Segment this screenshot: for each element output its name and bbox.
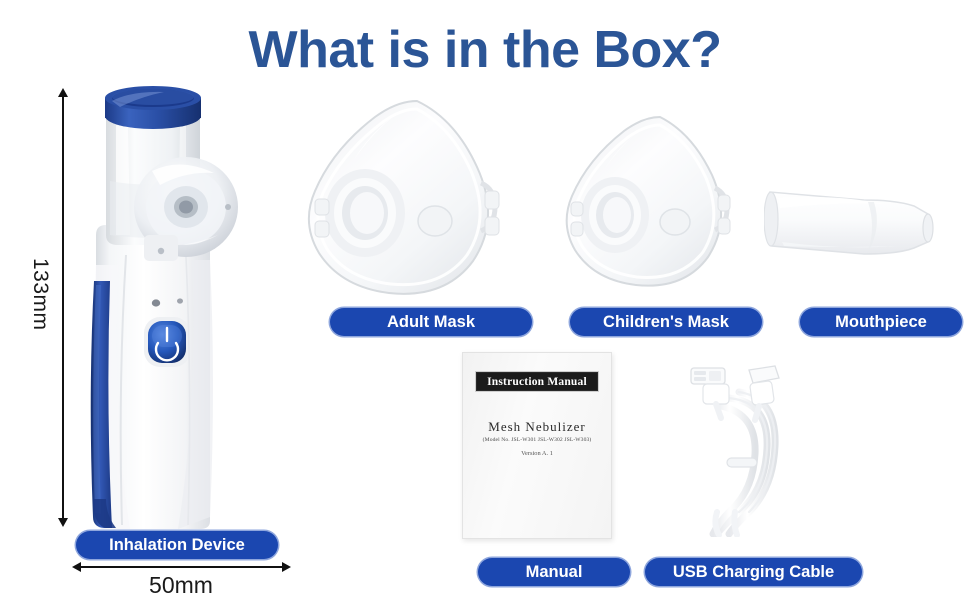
label-childrens-mask[interactable]: Children's Mask — [570, 308, 762, 336]
label-mouthpiece[interactable]: Mouthpiece — [800, 308, 962, 336]
dimension-line-horizontal — [79, 566, 284, 568]
manual-title: Mesh Nebulizer — [463, 419, 611, 435]
infographic-canvas: What is in the Box? 133mm — [0, 0, 970, 600]
label-usb-charging-cable[interactable]: USB Charging Cable — [645, 558, 862, 586]
page-title: What is in the Box? — [0, 20, 970, 80]
manual-model-number: (Model No. JSL-W301 JSL-W302 JSL-W303) — [463, 437, 611, 443]
manual-banner: Instruction Manual — [477, 373, 597, 390]
label-inhalation-device[interactable]: Inhalation Device — [76, 531, 278, 559]
label-adult-mask[interactable]: Adult Mask — [330, 308, 532, 336]
manual-version: Version A. 1 — [463, 450, 611, 457]
height-dimension-label: 133mm — [28, 258, 52, 331]
inhalation-device-image — [60, 85, 245, 530]
mouthpiece-image — [764, 176, 936, 264]
label-manual[interactable]: Manual — [478, 558, 630, 586]
dimension-arrow-right — [282, 562, 291, 572]
width-dimension-label: 50mm — [96, 572, 266, 599]
manual-image: Instruction Manual Mesh Nebulizer (Model… — [462, 352, 612, 539]
usb-cable-image — [683, 362, 793, 537]
childrens-mask-image — [556, 112, 752, 292]
adult-mask-image — [297, 95, 525, 300]
